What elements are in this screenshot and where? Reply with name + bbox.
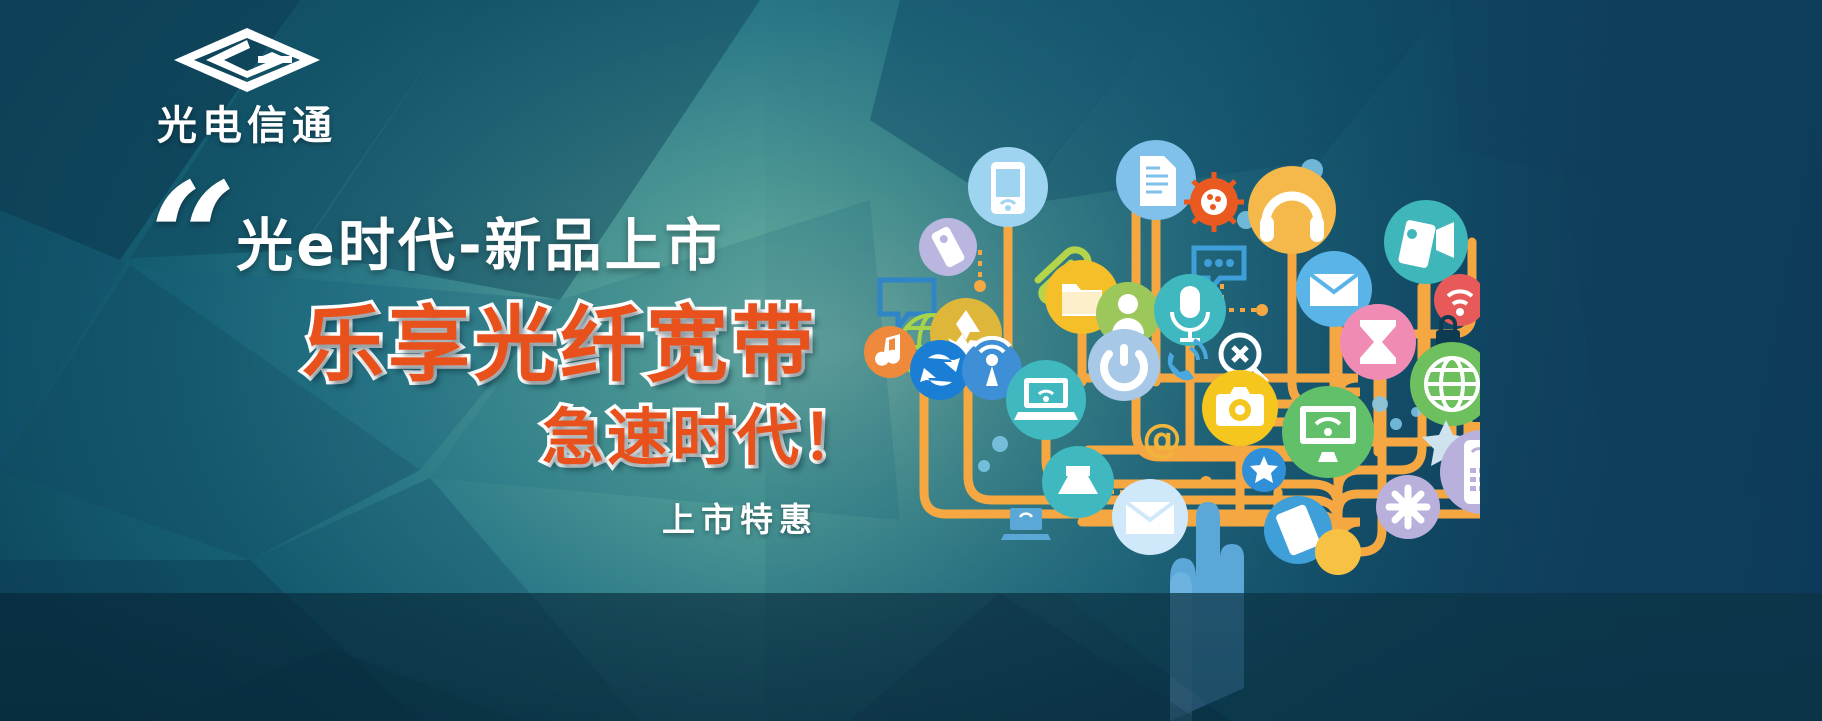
promo-banner: .br{fill:none;stroke:#f5a742;stroke-widt… bbox=[0, 0, 1822, 721]
monitor-wifi-icon bbox=[1282, 386, 1374, 478]
brand-logo[interactable]: 光电信通 bbox=[122, 26, 372, 146]
sparkle-icon bbox=[1376, 475, 1440, 539]
headline-primary: 光e时代-新品上市 bbox=[236, 218, 724, 275]
diamond-g-logo-icon bbox=[172, 26, 322, 94]
video-camera-icon bbox=[1384, 200, 1468, 284]
laptop-wifi-icon bbox=[1006, 360, 1086, 440]
document-icon bbox=[1116, 140, 1196, 220]
headline-row: “ 光e时代-新品上市 bbox=[150, 196, 850, 285]
brand-name: 光电信通 bbox=[122, 106, 372, 146]
headline-secondary: 乐享光纤宽带 bbox=[302, 305, 850, 387]
smartphone-wifi-icon bbox=[968, 147, 1048, 227]
refresh-icon bbox=[910, 340, 970, 400]
headline-tertiary: 急速时代！ bbox=[542, 407, 850, 469]
printer-icon bbox=[1042, 446, 1114, 518]
hourglass-icon bbox=[1340, 304, 1416, 380]
flip-phone-icon bbox=[919, 218, 977, 276]
wifi-signal-icon bbox=[1434, 274, 1480, 326]
microphone-icon bbox=[1154, 274, 1226, 346]
promo-copy: “ 光e时代-新品上市 乐享光纤宽带 急速时代！ 上市特惠 bbox=[150, 196, 850, 541]
gear-icon bbox=[1184, 172, 1244, 232]
bottom-dark-band bbox=[0, 593, 1822, 721]
promo-subtitle: 上市特惠 bbox=[662, 493, 850, 541]
headphones-icon bbox=[1248, 166, 1336, 254]
tree-root-node bbox=[1315, 529, 1361, 575]
music-note-icon bbox=[864, 326, 916, 378]
quotation-mark-icon: “ bbox=[150, 192, 230, 285]
power-icon bbox=[1088, 329, 1160, 401]
